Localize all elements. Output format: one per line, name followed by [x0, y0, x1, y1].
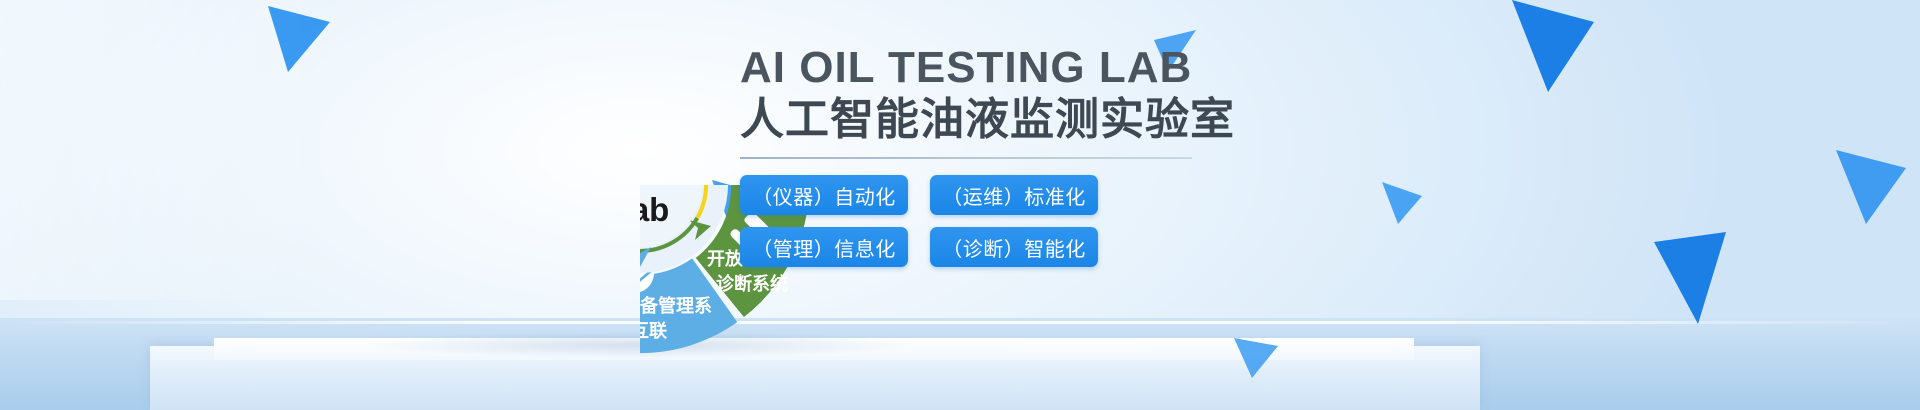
- wheel-segment-status-visualization[interactable]: 设备运行状态 图形化显示: [470, 38, 597, 166]
- ai-oil-testing-lab-banner: 基于工业 4.0 概念 嵌入先进设备 管理理念: [0, 0, 1920, 410]
- wheel-segment-label: 与设备管理规: [474, 248, 582, 269]
- decor-triangle-icon: [1654, 232, 1740, 324]
- banner-copy-block: AI OIL TESTING LAB 人工智能油液监测实验室 （仪器）自动化 （…: [740, 44, 1500, 267]
- clock-icon: [513, 214, 547, 248]
- title-english: AI OIL TESTING LAB: [740, 44, 1500, 92]
- feature-tag-management-informatization[interactable]: （管理）信息化: [740, 227, 908, 267]
- wheel-segment-label: 与企业设备管理系: [568, 295, 712, 316]
- decor-triangle-icon: [268, 6, 330, 72]
- decor-triangle-icon: [1836, 150, 1906, 224]
- wheel-segment-management-integration[interactable]: 与设备管理规 程高度集成: [471, 156, 585, 317]
- decor-triangle-icon: [1508, 0, 1594, 92]
- wheel-segment-label: 程高度集成: [483, 273, 573, 294]
- wheel-center-line-2: Lab: [611, 191, 670, 228]
- key-icon: [508, 83, 558, 115]
- decor-triangle-icon: [1234, 338, 1278, 378]
- wheel-segment-shape: [471, 156, 585, 317]
- feature-tag-operations-standardization[interactable]: （运维）标准化: [930, 175, 1098, 215]
- title-divider: [740, 157, 1192, 159]
- speech-bubbles-icon: [624, 29, 666, 70]
- wheel-segment-shape: [566, 17, 713, 104]
- floor-edge-line: [0, 321, 1920, 324]
- wheel-segment-label: 图形化显示: [479, 145, 569, 166]
- feature-tag-list: （仪器）自动化 （运维）标准化 （管理）信息化 （诊断）智能化: [740, 175, 1110, 267]
- wheel-center-line-1: AI: [624, 151, 657, 188]
- background-wall-highlight: [0, 0, 300, 300]
- wheel-segment-label: 设备运行状态: [470, 120, 578, 141]
- wheel-segment-label: 统互联: [613, 320, 667, 341]
- wheel-segment-label: 基于工业 4.0 概念: [564, 67, 716, 90]
- wheel-segment-shape: [476, 38, 597, 166]
- title-chinese: 人工智能油液监测实验室: [740, 94, 1500, 146]
- wheel-segment-label: 诊断系统: [716, 273, 788, 294]
- feature-tag-diagnosis-intelligence[interactable]: （诊断）智能化: [930, 227, 1098, 267]
- feature-tag-instrument-automation[interactable]: （仪器）自动化: [740, 175, 908, 215]
- wheel-segment-industry-concept[interactable]: 基于工业 4.0 概念: [564, 17, 716, 104]
